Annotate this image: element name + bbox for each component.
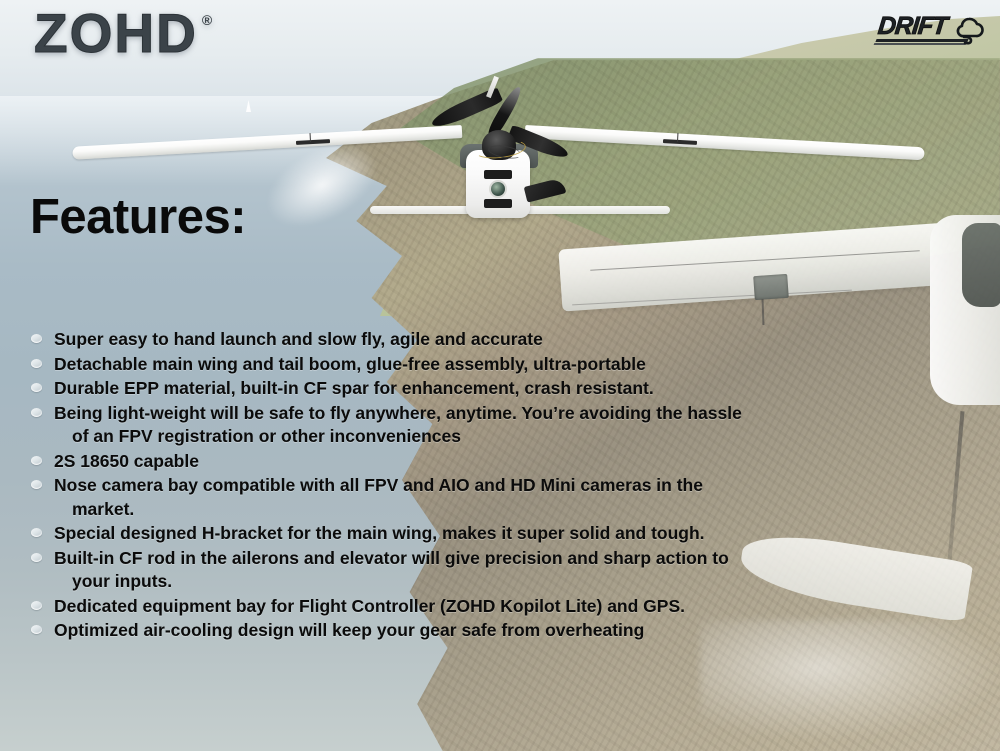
ghost-canopy	[962, 223, 1000, 307]
list-item: Optimized air-cooling design will keep y…	[24, 619, 914, 643]
bullet-marker-icon	[31, 334, 42, 343]
list-item-text: Built-in CF rod in the ailerons and elev…	[54, 548, 729, 568]
list-item: Dedicated equipment bay for Flight Contr…	[24, 595, 914, 619]
registered-trademark-icon: ®	[202, 12, 212, 28]
bullet-marker-icon	[31, 383, 42, 392]
drift-logo: DRIFT	[878, 8, 988, 50]
camera-vent-bottom	[484, 199, 512, 208]
bullet-marker-icon	[31, 480, 42, 489]
list-item-text: Dedicated equipment bay for Flight Contr…	[54, 596, 685, 616]
camera-lens-icon	[491, 182, 505, 196]
list-item-text: 2S 18650 capable	[54, 451, 199, 471]
zohd-logo: ZOHD ®	[34, 6, 212, 61]
list-item: 2S 18650 capable	[24, 450, 914, 474]
zohd-wordmark: ZOHD	[34, 6, 198, 61]
list-item-text: Optimized air-cooling design will keep y…	[54, 620, 644, 640]
list-item-text: Durable EPP material, built-in CF spar f…	[54, 378, 654, 398]
drift-wordmark: DRIFT	[876, 12, 948, 41]
list-item: Nose camera bay compatible with all FPV …	[24, 474, 914, 521]
list-item: Super easy to hand launch and slow fly, …	[24, 328, 914, 352]
bullet-marker-icon	[31, 456, 42, 465]
list-item-text: Super easy to hand launch and slow fly, …	[54, 329, 543, 349]
cloud-wind-icon	[950, 11, 988, 50]
list-item-text: Detachable main wing and tail boom, glue…	[54, 354, 646, 374]
ghost-tail-boom	[947, 411, 964, 561]
list-item-continuation: market.	[54, 498, 914, 522]
list-item: Built-in CF rod in the ailerons and elev…	[24, 547, 914, 594]
ghost-pushrod	[762, 299, 765, 325]
ghost-servo	[753, 274, 789, 300]
list-item: Special designed H-bracket for the main …	[24, 522, 914, 546]
bullet-marker-icon	[31, 528, 42, 537]
bullet-marker-icon	[31, 408, 42, 417]
list-item-continuation: your inputs.	[54, 570, 914, 594]
list-item-text: Special designed H-bracket for the main …	[54, 523, 705, 543]
bullet-marker-icon	[31, 359, 42, 368]
features-list: Super easy to hand launch and slow fly, …	[24, 328, 914, 644]
right-wing	[525, 125, 925, 160]
list-item-continuation: of an FPV registration or other inconven…	[54, 425, 914, 449]
list-item: Detachable main wing and tail boom, glue…	[24, 353, 914, 377]
list-item: Durable EPP material, built-in CF spar f…	[24, 377, 914, 401]
bullet-marker-icon	[31, 553, 42, 562]
vertical-fin	[524, 177, 567, 202]
bullet-marker-icon	[31, 625, 42, 634]
left-wing	[72, 125, 462, 160]
bullet-marker-icon	[31, 601, 42, 610]
list-item-text: Nose camera bay compatible with all FPV …	[54, 475, 703, 495]
list-item: Being light-weight will be safe to fly a…	[24, 402, 914, 449]
page-title: Features:	[30, 189, 246, 245]
list-item-text: Being light-weight will be safe to fly a…	[54, 403, 742, 423]
camera-vent-top	[484, 170, 512, 179]
slide-canvas: ZOHD ® DRIFT Features: Super easy to han…	[0, 0, 1000, 751]
